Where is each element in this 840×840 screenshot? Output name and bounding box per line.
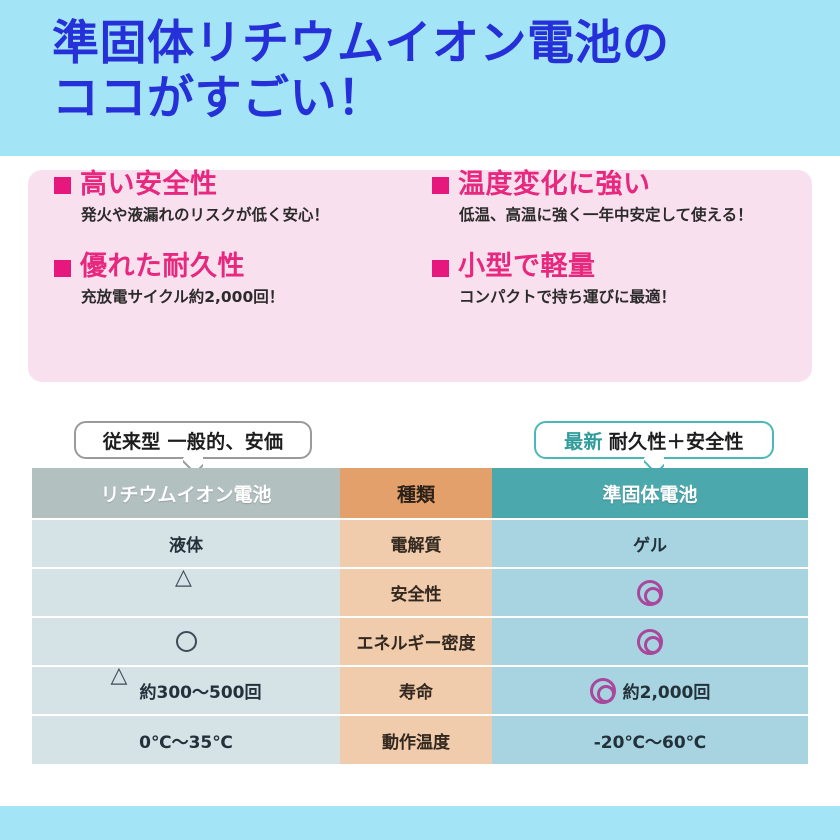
cell-semisolid: ゲル xyxy=(492,519,808,568)
double-circle-mark-icon xyxy=(637,580,663,606)
callout-tail-icon xyxy=(183,457,203,468)
bottom-accent-bar xyxy=(0,806,840,840)
triangle-mark-icon xyxy=(111,681,133,700)
comparison-table: リチウムイオン電池 種類 準固体電池 液体 電解質 ゲル 安全性 xyxy=(32,468,808,764)
feature-item: 小型で軽量 コンパクトで持ち運びに最適！ xyxy=(432,252,804,306)
feature-item: 高い安全性 発火や液漏れのリスクが低く安心！ xyxy=(54,170,426,224)
double-circle-mark-icon xyxy=(637,629,663,655)
cell-text: 0℃〜35℃ xyxy=(139,728,233,753)
column-header-semisolid: 準固体電池 xyxy=(492,468,808,519)
callout-semisolid: 最新 耐久性＋安全性 xyxy=(534,421,774,459)
feature-title: 小型で軽量 xyxy=(458,252,596,282)
double-circle-mark-icon xyxy=(590,678,616,704)
cell-text: 約2,000回 xyxy=(623,678,711,703)
table-row: 0℃〜35℃ 動作温度 -20℃〜60℃ xyxy=(32,715,808,764)
callout-conventional: 従来型 一般的、安価 xyxy=(74,421,312,459)
features-column-left: 高い安全性 発火や液漏れのリスクが低く安心！ 優れた耐久性 充放電サイクル約2,… xyxy=(54,170,426,307)
feature-description: 低温、高温に強く一年中安定して使える！ xyxy=(459,206,804,225)
cell-attribute: 動作温度 xyxy=(340,715,492,764)
cell-semisolid: 約2,000回 xyxy=(492,666,808,715)
feature-heading: 優れた耐久性 xyxy=(54,252,426,282)
feature-description: 発火や液漏れのリスクが低く安心！ xyxy=(81,206,426,225)
column-header-conventional: リチウムイオン電池 xyxy=(32,468,340,519)
table-row: 安全性 xyxy=(32,568,808,617)
cell-semisolid xyxy=(492,568,808,617)
cell-text: 約300〜500回 xyxy=(140,678,262,703)
column-header-attribute: 種類 xyxy=(340,468,492,519)
feature-item: 優れた耐久性 充放電サイクル約2,000回！ xyxy=(54,252,426,306)
callout-tail-icon xyxy=(644,457,664,468)
infographic-page: 準固体リチウムイオン電池の ココがすごい！ 高い安全性 発火や液漏れのリスクが低… xyxy=(0,0,840,840)
triangle-mark-icon xyxy=(175,583,197,602)
feature-heading: 小型で軽量 xyxy=(432,252,804,282)
cell-conventional: 0℃〜35℃ xyxy=(32,715,340,764)
square-bullet-icon xyxy=(432,260,449,277)
cell-conventional: 約300〜500回 xyxy=(32,666,340,715)
cell-attribute: 寿命 xyxy=(340,666,492,715)
table-header-row: リチウムイオン電池 種類 準固体電池 xyxy=(32,468,808,519)
square-bullet-icon xyxy=(54,260,71,277)
table-row: 液体 電解質 ゲル xyxy=(32,519,808,568)
title-banner: 準固体リチウムイオン電池の ココがすごい！ xyxy=(0,0,840,156)
feature-title: 高い安全性 xyxy=(80,170,218,200)
callout-text: 耐久性＋安全性 xyxy=(609,427,744,454)
feature-title: 優れた耐久性 xyxy=(80,252,245,282)
cell-text: ゲル xyxy=(633,531,667,556)
square-bullet-icon xyxy=(432,177,449,194)
cell-semisolid xyxy=(492,617,808,666)
callout-accent-label: 最新 xyxy=(564,427,603,454)
feature-title: 温度変化に強い xyxy=(458,170,651,200)
table-body: 液体 電解質 ゲル 安全性 エネルギー密度 xyxy=(32,519,808,764)
cell-attribute: 安全性 xyxy=(340,568,492,617)
feature-heading: 温度変化に強い xyxy=(432,170,804,200)
cell-attribute: 電解質 xyxy=(340,519,492,568)
features-column-right: 温度変化に強い 低温、高温に強く一年中安定して使える！ 小型で軽量 コンパクトで… xyxy=(432,170,804,307)
table-row: エネルギー密度 xyxy=(32,617,808,666)
feature-description: 充放電サイクル約2,000回！ xyxy=(81,288,426,307)
cell-conventional xyxy=(32,617,340,666)
cell-conventional: 液体 xyxy=(32,519,340,568)
cell-semisolid: -20℃〜60℃ xyxy=(492,715,808,764)
cell-attribute: エネルギー密度 xyxy=(340,617,492,666)
cell-text: 液体 xyxy=(169,531,203,556)
table-row: 約300〜500回 寿命 約2,000回 xyxy=(32,666,808,715)
feature-heading: 高い安全性 xyxy=(54,170,426,200)
circle-mark-icon xyxy=(176,631,197,652)
features-card: 高い安全性 発火や液漏れのリスクが低く安心！ 優れた耐久性 充放電サイクル約2,… xyxy=(28,170,812,382)
callout-text: 従来型 一般的、安価 xyxy=(103,427,284,454)
cell-text: -20℃〜60℃ xyxy=(594,728,707,753)
page-title: 準固体リチウムイオン電池の ココがすごい！ xyxy=(52,16,822,127)
square-bullet-icon xyxy=(54,177,71,194)
feature-item: 温度変化に強い 低温、高温に強く一年中安定して使える！ xyxy=(432,170,804,224)
feature-description: コンパクトで持ち運びに最適！ xyxy=(459,288,804,307)
cell-conventional xyxy=(32,568,340,617)
